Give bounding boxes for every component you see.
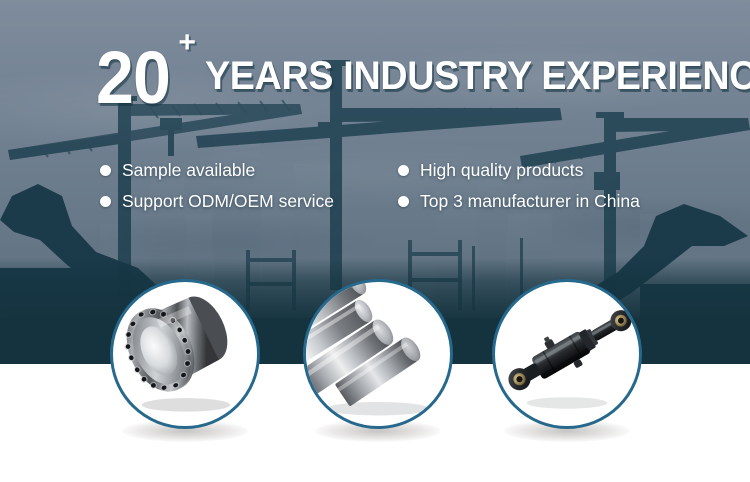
list-item: High quality products — [398, 160, 640, 181]
bullet-dot-icon — [100, 196, 111, 207]
bullet-dot-icon — [398, 196, 409, 207]
bullet-label: Support ODM/OEM service — [122, 191, 334, 212]
bullet-label: Sample available — [122, 160, 255, 181]
plus-superscript: + — [178, 28, 196, 58]
bullet-label: Top 3 manufacturer in China — [420, 191, 640, 212]
list-item: Support ODM/OEM service — [100, 191, 334, 212]
product-circle-hydraulic-cylinder[interactable] — [492, 279, 642, 429]
list-item: Sample available — [100, 160, 334, 181]
years-number: 20 — [96, 46, 170, 110]
product-circle-steel-flange-pipe[interactable] — [110, 279, 260, 429]
bullet-dot-icon — [100, 165, 111, 176]
steel-round-bars-image — [306, 282, 450, 426]
steel-flange-pipe-image — [113, 282, 257, 426]
promo-banner: 20 + YEARS INDUSTRY EXPERIENCE Sample av… — [0, 0, 750, 482]
banner-headline: 20 + YEARS INDUSTRY EXPERIENCE — [96, 40, 750, 104]
list-item: Top 3 manufacturer in China — [398, 191, 640, 212]
bullet-dot-icon — [398, 165, 409, 176]
headline-text: YEARS INDUSTRY EXPERIENCE — [205, 54, 750, 99]
product-circle-steel-round-bars[interactable] — [303, 279, 453, 429]
feature-list-left: Sample available Support ODM/OEM service — [100, 160, 334, 212]
feature-list-right: High quality products Top 3 manufacturer… — [398, 160, 640, 212]
hydraulic-cylinder-image — [495, 282, 639, 426]
bullet-label: High quality products — [420, 160, 583, 181]
